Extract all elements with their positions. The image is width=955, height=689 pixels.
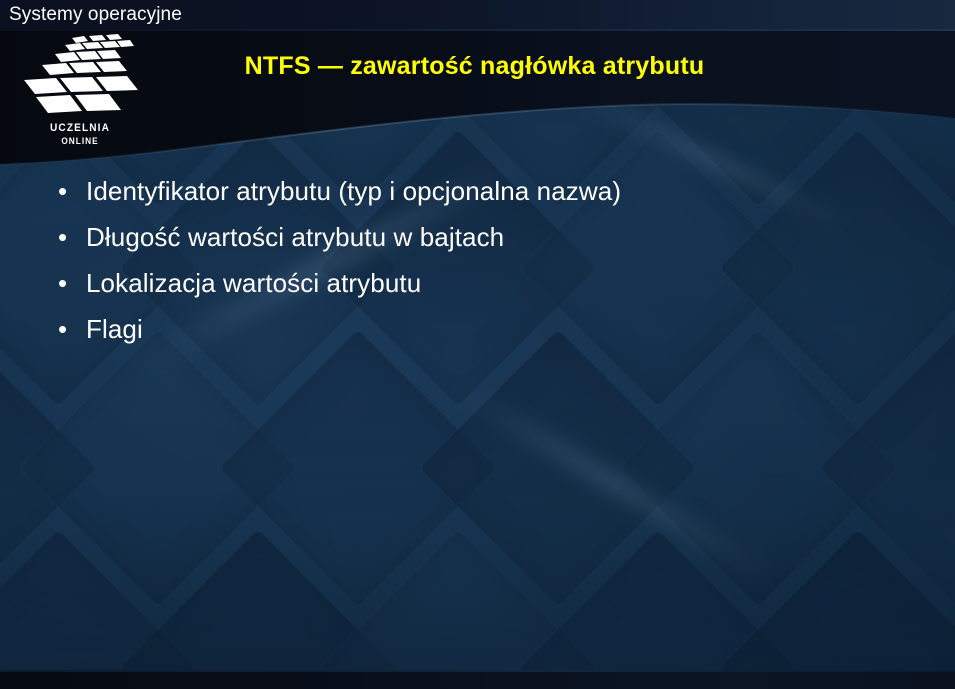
list-item-label: Lokalizacja wartości atrybutu — [86, 264, 421, 302]
topbar-underline — [0, 29, 955, 31]
bullet-marker-icon: • — [52, 264, 86, 302]
logo-text-line1: UCZELNIA — [19, 122, 140, 135]
list-item: • Długość wartości atrybutu w bajtach — [52, 218, 912, 264]
bullet-list: • Identyfikator atrybutu (typ i opcjonal… — [52, 172, 912, 356]
bullet-marker-icon: • — [52, 310, 86, 348]
logo-text: UCZELNIA ONLINE — [14, 122, 146, 147]
course-title: Systemy operacyjne — [9, 2, 182, 28]
list-item-label: Długość wartości atrybutu w bajtach — [86, 218, 504, 256]
list-item: • Flagi — [52, 310, 912, 356]
logo: UCZELNIA ONLINE — [14, 32, 146, 154]
list-item-label: Flagi — [86, 310, 143, 348]
logo-text-line2: ONLINE — [19, 135, 140, 147]
bullet-marker-icon: • — [52, 218, 86, 256]
slide-title: NTFS — zawartość nagłówka atrybutu — [0, 52, 955, 81]
list-item: • Lokalizacja wartości atrybutu — [52, 264, 912, 310]
list-item: • Identyfikator atrybutu (typ i opcjonal… — [52, 172, 912, 218]
bottombar — [0, 672, 955, 689]
bullet-marker-icon: • — [52, 172, 86, 210]
slide-canvas: Systemy operacyjne — [0, 0, 955, 689]
list-item-label: Identyfikator atrybutu (typ i opcjonalna… — [86, 172, 621, 210]
